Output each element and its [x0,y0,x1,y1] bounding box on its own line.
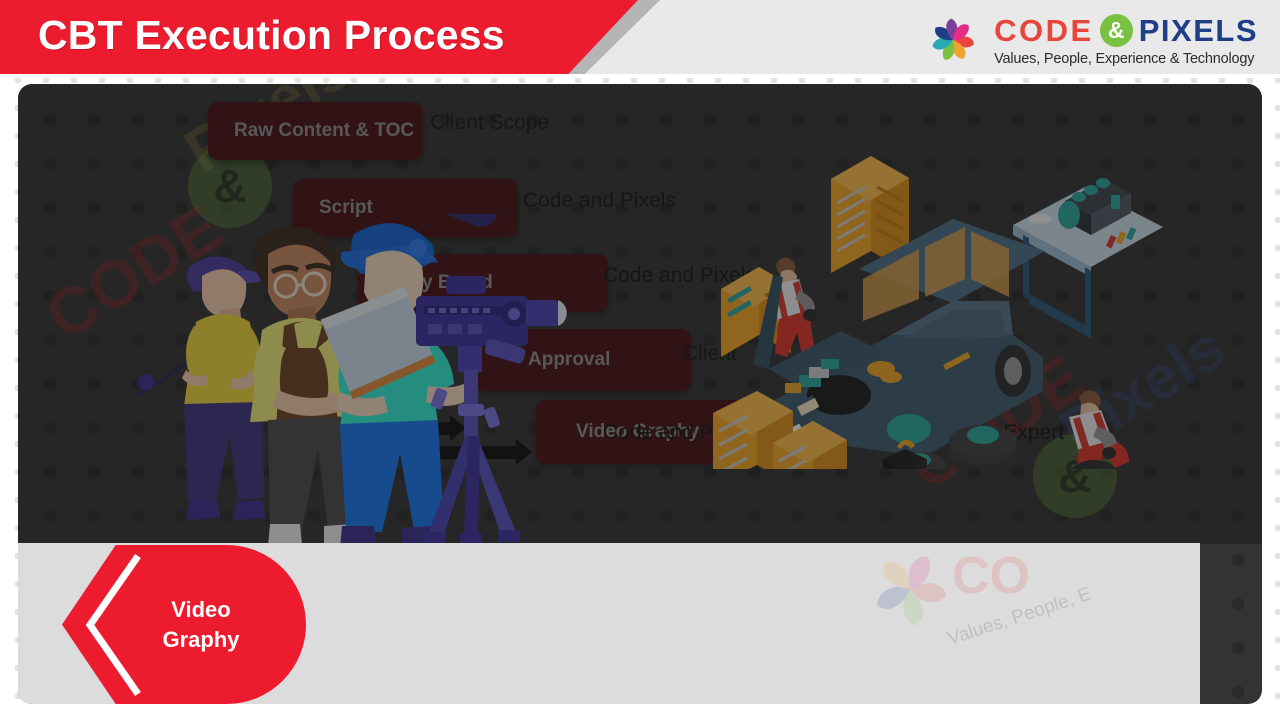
brand-pixels-text: PIXELS [1139,15,1258,46]
header-divider [0,74,1280,78]
svg-text:CO: CO [952,547,1030,605]
flow-box-raw-content[interactable]: Raw Content & TOC [208,102,423,160]
brand-tagline: Values, People, Experience & Technology [994,52,1258,67]
brand-code-text: CODE [994,15,1094,46]
video-crew-illustration [128,214,608,544]
pinwheel-logo-icon [922,9,984,71]
page-title: CBT Execution Process [38,12,505,59]
brand-logo: CODE & PIXELS Values, People, Experience… [922,9,1258,71]
garage-illustration [713,139,1183,469]
svg-text:Values, People, E: Values, People, E [945,584,1094,650]
panel-watermark: CO Values, People, E [860,539,1160,659]
page-header: CBT Execution Process CODE & PIXELS [0,0,1280,78]
stage-badge-line-1: Video [171,597,231,622]
stage-badge-line-2: Graphy [162,627,239,652]
flow-box-label: Raw Content & TOC [234,120,414,142]
brand-ampersand-badge: & [1100,14,1133,47]
illustration-stage: CODE Pixels & CODE Pixels & Raw Content … [18,84,1262,544]
stage-badge-label: Video Graphy [162,595,239,654]
slide-content-panel: CODE Pixels & CODE Pixels & Raw Content … [18,84,1262,704]
flow-owner-raw-content: Client Scope [430,111,549,135]
flow-owner-script: Code and Pixels [523,189,676,213]
brand-wordmark: CODE & PIXELS Values, People, Experience… [994,14,1258,67]
